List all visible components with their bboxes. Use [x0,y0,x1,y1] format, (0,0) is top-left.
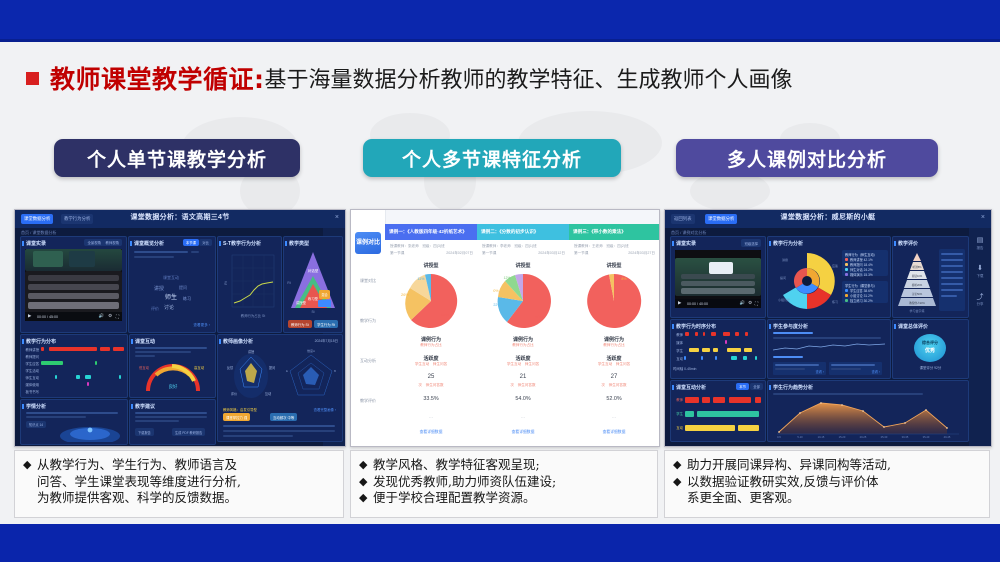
dashboard1-panel-st: S-T教学行为分析 教师行为占比 St Rt [217,236,282,333]
svg-text:评价: 评价 [231,391,238,396]
dashboard2-col1-number-sub: 次 师生问答数 [477,383,569,388]
svg-text:讲授: 讲授 [154,285,164,292]
banner-multi-teacher[interactable]: 多人课例对比分析 [676,139,938,177]
headline-bullet-icon [26,72,39,85]
settings-icon[interactable]: ⚙ [108,313,112,319]
dashboard2-col2-kv-sub: 教师行为占比 [569,343,659,348]
dashboard1-chip-1[interactable]: 教学行为分析 [61,214,93,224]
dashboard2-col1-percent: 54.0% [477,396,569,402]
svg-text:教授他人90%: 教授他人90% [909,301,925,305]
svg-text:20%: 20% [493,289,499,293]
dashboard2-col0-number-sub: 次 师生问答数 [385,383,477,388]
dashboard2-pie-1: 46% 22% 20% 12% [493,272,553,330]
dashboard1-panel-type: 教学类型 对话型 讲授型 练习型 混合 St Rt 教师行为 St 学生行为 R… [283,236,343,333]
slide-root: 教师课堂教学循证: 基于海量数据分析教师的教学特征、生成教师个人画像 个人单节课… [0,0,1000,562]
svg-text:教师行为占比 St: 教师行为占比 St [241,313,266,318]
download-icon[interactable]: ⬇ [969,264,991,272]
settings-icon[interactable]: ⚙ [748,300,752,306]
fullscreen-icon[interactable]: ⛶ [116,314,119,319]
dashboard3-panel-video: 课堂实录 班级选择 ▶ 00:00 / 40:00 🔊 ⚙ ⛶ [670,236,766,318]
play-icon[interactable]: ▶ [678,300,681,306]
dashboard3-panel-score-title: 课堂总体评价 [898,323,928,330]
dashboard1-panel-overview: 课堂概览分析 本节课 对比 课堂互动 讲授 提问 师生 练习 讨论 评价 查看更… [128,236,216,333]
portrait-radar-left: 讲授 提问 互动 评价 反馈 [222,347,280,405]
dashboard1-panel-advice: 教学建议 下载报告 生成 PDF 教研报告 [129,399,216,445]
caption-bullet-icon: ◆ [359,457,373,474]
svg-text:师生: 师生 [165,293,177,301]
svg-text:Rt: Rt [224,281,228,284]
svg-text:讲授: 讲授 [248,349,255,354]
svg-text:8%: 8% [621,277,627,281]
dashboard2-col0-link[interactable]: 查看详细数据 [385,430,477,435]
behavior-row-label-5: 媒体使用 [23,382,39,387]
behavior-row-label-2: 学生应答 [23,361,39,366]
dashboard2-col0-percent: 33.5% [385,396,477,402]
dashboard1-panel-overview-title: 课堂概览分析 [134,240,164,247]
svg-text:小组讨论: 小组讨论 [778,297,790,302]
dashboard2-col0-kv-label: 活跃度 [385,355,477,362]
dashboard1-video-tag-b[interactable]: 教师视角 [102,239,122,246]
dashboard3-panel-trend-title: 学生行为趋势分析 [773,384,813,391]
dashboard1-panel-learning-title: 学情分析 [26,403,46,410]
svg-text:阅读10%: 阅读10% [912,274,923,278]
dashboard1-panel-type-title: 教学类型 [289,240,309,247]
dashboard2-col2-chart-title: 讲授型 [569,262,659,269]
dashboard2-nav-0[interactable]: 课堂对比 [353,278,383,284]
svg-text:E: E [286,369,288,373]
dashboard2-col0-kv-sub: 教师行为占比 [385,343,477,348]
behavior-row-label-4: 师生互动 [23,375,39,380]
dashboard2-nav-1[interactable]: 教学行为 [353,318,383,324]
dashboard2-pie-2: 8% [584,272,644,330]
dashboard2-col2-kv-label: 活跃度 [569,355,659,362]
dashboard2-nav-2[interactable]: 互动分析 [353,358,383,364]
score-caption: 课堂评分 92分 [893,365,968,370]
dashboard2-col2-number: 27 [569,374,659,380]
dashboard2-col0-kv-title: 课例行为 [385,336,477,343]
svg-text:22%: 22% [493,303,501,307]
dashboard3-panel-participation: 学生参与度分析 查看 › 查看 › [767,319,891,379]
knowledge-graph [57,422,123,442]
dashboard2-col1-number: 21 [477,374,569,380]
svg-text:40-45: 40-45 [944,435,951,439]
svg-text:提问: 提问 [780,275,786,280]
dashboard1-panel-interaction-title: 课堂互动 [135,338,155,345]
caption-multi-lesson: ◆教学风格、教学特征客观呈现; ◆发现优秀教师,助力师资队伍建设; ◆便于学校合… [350,450,658,518]
dashboard2-col0-kv-label-sub: 学生互动 师生问答 [385,362,477,367]
report-icon[interactable]: ▤ [969,236,991,244]
dashboard2-col0-count: 第一节课 [390,251,404,256]
teaching-type-triangle: 对话型 讲授型 练习型 混合 St Rt [287,250,339,314]
svg-text:应答: 应答 [832,263,838,268]
dashboard1-type-btn-rt[interactable]: 学生行为 Rt [314,320,338,328]
dashboard1-panel-behavior-title: 教学行为分布 [26,338,56,345]
svg-text:讲授: 讲授 [782,257,788,262]
caption-bullet-icon: ◆ [23,457,37,474]
dashboard3-panel-score: 课堂总体评价 综合评分 优秀 课堂评分 92分 [892,319,969,379]
dashboard3-panel-trend: 学生行为趋势分析 0-55-1010-15 [767,380,969,442]
dashboard2-topbar [351,210,659,225]
dashboard1-word-cloud: 课堂互动 讲授 提问 师生 练习 讨论 评价 [143,265,201,321]
top-decoration-accent [0,39,1000,42]
dashboard1-panel-behavior: 教学行为分布 教师讲授 教师提问 学生应答 学生活动 师生互动 媒体使用 板书书… [20,334,128,398]
svg-text:提问: 提问 [269,365,275,370]
dashboard2-left-sidebar[interactable]: 课例对比 课堂对比 教学行为 互动分析 教学评价 [351,210,386,446]
dashboard2-col1-teacher: 授课教师：李老师 班级：四(1)班 [482,244,537,249]
dashboard2-column-2-header: 课例三：《带小数的乘法》 [569,224,659,240]
dashboard1-overview-tab-b[interactable]: 对比 [199,239,212,246]
volume-icon[interactable]: 🔊 [740,300,745,306]
behavior-row-label-0: 教师讲授 [23,347,39,352]
dashboard2-logo: 课例对比 [355,232,381,254]
dashboard3-panel-timeline-title: 教学行为时序分布 [676,323,716,330]
dashboard2-col0-chart-title: 讲授型 [385,262,477,269]
svg-text:58%: 58% [441,312,449,317]
dashboard2-col1-date: 2024年03月12日 [538,251,565,256]
portrait-tag-b[interactable]: 互动频次 中等 [270,413,297,421]
dashboard2-col1-kv-label-sub: 学生互动 师生问答 [477,362,569,367]
svg-text:讲授型: 讲授型 [296,300,307,305]
svg-text:提问: 提问 [179,284,187,290]
svg-text:反馈: 反馈 [227,365,234,370]
dashboard1-panel-video-title: 课堂实录 [26,240,46,247]
donut-legend-b: 学生行为（课堂参与） 学生应答 38.6% 小组讨论 31.2% 独立练习 30… [842,281,888,303]
dashboard2-col1-chart-title: 讲授型 [477,262,569,269]
dashboard1-video-tag-a[interactable]: 全景视角 [84,239,104,246]
headline-rest: 基于海量数据分析教师的教学特征、生成教师个人画像 [265,62,793,94]
top-decoration-bar [0,0,1000,42]
play-icon[interactable]: ▶ [28,313,31,319]
svg-text:12%: 12% [504,276,511,280]
svg-text:35-40: 35-40 [923,435,930,439]
svg-text:对话型: 对话型 [308,268,319,273]
dashboard1-overview-tab-a[interactable]: 本节课 [183,239,199,246]
dashboard3-panel-video-title: 课堂实录 [676,240,696,247]
learning-tag[interactable]: 知识点 14 [26,421,46,428]
dashboard3-sidebar[interactable]: ▤ 报告 ⬇ 下载 ⤴ 分享 [969,228,991,446]
dashboard2-col2-count: 第一节课 [574,251,588,256]
svg-text:25-30: 25-30 [881,435,888,439]
dashboard3-panel-evaluation-title: 教学评价 [898,240,918,247]
dashboard2-col2-link[interactable]: 查看详细数据 [569,430,659,435]
portrait-detail-link[interactable]: 查看完整画像 › [314,407,336,412]
video-timestamp: 00:00 / 40:00 [687,302,708,306]
fullscreen-icon[interactable]: ⛶ [755,301,758,306]
video-timestamp: 00:00 / 45:00 [37,315,58,319]
dashboard2-column-0-header: 课例一：《人教版四年级·42折纸艺术》 [385,224,477,240]
page-headline: 教师课堂教学循证: 基于海量数据分析教师的教学特征、生成教师个人画像 [26,58,976,98]
volume-icon[interactable]: 🔊 [99,313,104,319]
svg-text:维度A: 维度A [307,348,315,353]
svg-text:讨论50%: 讨论50% [912,292,923,296]
svg-text:B: B [334,369,336,373]
behavior-row-label-3: 学生活动 [23,368,39,373]
dashboard1-close-icon[interactable]: × [335,214,339,221]
behavior-row-label-6: 板书书写 [23,389,39,394]
portrait-radar-right: 维度A B E [284,347,338,405]
dashboard1-panel-advice-title: 教学建议 [135,403,155,410]
dashboard1-panel-st-title: S-T教学行为分析 [223,240,261,247]
dashboard1-panel-interaction: 课堂互动 良好 低互动 高互动 [129,334,216,398]
participation-card-b: 查看 › [829,362,882,375]
dashboard-screenshot-multi-teacher[interactable]: 课堂数据分析：威尼斯的小艇 返回列表 课堂数据分析 × 首页 / 课例对比分析 … [664,209,992,447]
dashboard3-panel-behavior: 教学行为分析 讲授 提问 小组讨论 应答 练习 教师行为（师生互动） 教师讲授 … [767,236,891,318]
headline-strong: 教师课堂教学循证: [50,60,265,96]
svg-text:46%: 46% [535,314,543,319]
dashboard3-chip-0[interactable]: 返回列表 [671,214,695,224]
svg-text:0-5: 0-5 [777,435,781,439]
svg-text:听讲5%: 听讲5% [913,265,923,269]
advice-btn-a[interactable]: 下载报告 [135,428,154,436]
dashboard-screenshot-single-lesson[interactable]: 课堂数据分析：语文高期三4节 课堂数据分析 教学行为分析 × 首页 / 课堂数据… [14,209,346,447]
interaction-tab-a[interactable]: 本节 [736,383,749,390]
svg-text:练习型: 练习型 [308,296,319,301]
dashboard2-col1-kv-label: 活跃度 [477,355,569,362]
behavior-row-label-1: 教师提问 [23,354,39,359]
dashboard1-chip-0[interactable]: 课堂数据分析 [21,214,53,224]
portrait-tag-a[interactable]: 课堂掌控力 强 [223,413,250,421]
learning-pyramid: 听讲5% 阅读10% 视听20% 讨论50% 教授他人90% 学习金字塔 [896,249,938,313]
svg-text:30-35: 30-35 [902,435,909,439]
dashboard2-col0-date: 2024年02月07日 [446,251,473,256]
dashboard-screenshot-multi-lesson[interactable]: 课例对比 课堂对比 教学行为 互动分析 教学评价 课例一：《人教版四年级·42折… [350,209,660,447]
dashboard3-panel-timeline: 教学行为时序分布 教师 媒体 学生 互动 时间轴 0-45min [670,319,766,379]
svg-text:视听20%: 视听20% [912,283,923,287]
classroom-video-still[interactable]: ▶ 00:00 / 45:00 🔊 ⚙ ⛶ [25,249,122,321]
dashboard1-type-btn-st[interactable]: 教师行为 St [288,320,312,328]
svg-text:讨论: 讨论 [164,304,174,311]
dashboard2-col2-kv-title: 课例行为 [569,336,659,343]
svg-text:Rt: Rt [287,281,290,285]
svg-text:11%: 11% [418,277,426,281]
svg-text:15-20: 15-20 [839,435,846,439]
svg-text:St: St [311,310,314,314]
dashboard1-panel-learning: 学情分析 知识点 14 [20,399,128,445]
svg-text:课堂互动: 课堂互动 [163,274,179,280]
banner-multi-lesson[interactable]: 个人多节课特征分析 [363,139,621,177]
class-select[interactable]: 班级选择 [741,239,761,247]
dashboard3-panel-behavior-title: 教学行为分析 [773,240,803,247]
dashboard2-pie-0: 58% 26% 11% [401,272,461,330]
caption-single-lesson: ◆从教学行为、学生行为、教师语言及 问答、学生课堂表现等维度进行分析, 为教师提… [14,450,344,518]
dashboard2-col0-number: 25 [385,374,477,380]
behavior-donut-chart: 讲授 提问 小组讨论 应答 练习 [774,249,840,313]
st-curve-chart: 教师行为占比 St Rt [224,251,278,325]
dashboard3-panel-interaction-title: 课堂互动分析 [676,384,706,391]
dashboard2-col1-kv-title: 课例行为 [477,336,569,343]
dashboard2-column-1-header: 课例二：《分数的初步认识》 [477,224,569,240]
svg-text:练习: 练习 [832,299,838,304]
dashboard2-column-2: 课例三：《带小数的乘法》 授课教师：王老师 班级：四(2)班 第一节课 2024… [569,224,659,446]
dashboard1-overview-more[interactable]: 查看更多 › [193,323,210,328]
participation-card-a: 查看 › [773,362,826,375]
dashboard2-col2-kv-label-sub: 学生互动 师生问答 [569,362,659,367]
dashboard2-col2-number-sub: 次 师生问答数 [569,383,659,388]
dashboard3-panel-participation-title: 学生参与度分析 [773,323,808,330]
svg-text:混合: 混合 [321,292,328,297]
evaluation-notes [939,249,965,311]
participation-sparkline [773,341,885,353]
student-trend-area-chart: 0-55-1010-15 15-2020-2525-30 30-3535-404… [773,399,963,439]
dashboard2-nav-3[interactable]: 教学评价 [353,398,383,404]
gauge-value: 良好 [169,383,178,390]
dashboard2-col2-teacher: 授课教师：王老师 班级：四(2)班 [574,244,629,249]
donut-legend-a: 教师行为（师生互动） 教师讲授 42.1% 教师提问 18.4% 师生对话 24… [842,250,888,276]
dashboard2-column-0: 课例一：《人教版四年级·42折纸艺术》 授课教师：张老师 班级：四(3)班 第一… [385,224,478,446]
interaction-tab-b: 全部 [750,383,763,390]
score-gauge-value: 优秀 [914,347,946,354]
svg-text:20-25: 20-25 [860,435,867,439]
dashboard1-panel-video: 课堂实录 全景视角 教师视角 ▶ 00:00 / 45:00 🔊 ⚙ ⛶ [20,236,127,333]
caption-multi-teacher: ◆助力开展同课异构、异课同构等活动, ◆以数据验证教研实效,反馈与评价体 系更全… [664,450,990,518]
advice-btn-b[interactable]: 生成 PDF 教研报告 [172,428,205,436]
svg-text:5-10: 5-10 [797,435,803,439]
dashboard3-close-icon[interactable]: × [981,214,985,221]
dashboard2-col1-count: 第一节课 [482,251,496,256]
dashboard3-chip-1[interactable]: 课堂数据分析 [705,214,737,224]
dashboard3-panel-evaluation: 教学评价 听讲5% 阅读10% 视听20% 讨论50% 教授他人90% 学习金字… [892,236,969,318]
dashboard2-col2-date: 2024年03月27日 [628,251,655,256]
dashboard1-panel-portrait-title: 教师画像分析 [223,338,253,345]
svg-text:26%: 26% [401,292,409,297]
dashboard2-col2-percent: 52.0% [569,396,659,402]
svg-text:练习: 练习 [183,295,191,301]
dashboard2-column-1: 课例二：《分数的初步认识》 授课教师：李老师 班级：四(1)班 第一节课 202… [477,224,570,446]
svg-text:评价: 评价 [151,305,159,311]
score-gauge-text: 综合评分 [914,340,946,346]
bottom-decoration-bar [0,524,1000,562]
dashboard2-col1-kv-sub: 教师行为占比 [477,343,569,348]
dashboard1-date: 2024年7月15日 [298,338,338,343]
caption-bullet-icon: ◆ [673,457,687,474]
svg-text:互动: 互动 [265,391,271,396]
dashboard1-panel-portrait: 教师画像分析 2024年7月15日 讲授 提问 互动 评价 反馈 维度A B E… [217,334,343,442]
classroom-video-still[interactable]: ▶ 00:00 / 40:00 🔊 ⚙ ⛶ [675,250,761,308]
svg-text:学习金字塔: 学习金字塔 [909,308,924,313]
svg-text:10-15: 10-15 [818,435,825,439]
dashboard2-col1-link[interactable]: 查看详细数据 [477,430,569,435]
dashboard2-col0-teacher: 授课教师：张老师 班级：四(3)班 [390,244,445,249]
dashboard3-panel-interaction: 课堂互动分析 本节 全部 教师 学生 互动 [670,380,766,442]
banner-single-lesson[interactable]: 个人单节课教学分析 [54,139,300,177]
